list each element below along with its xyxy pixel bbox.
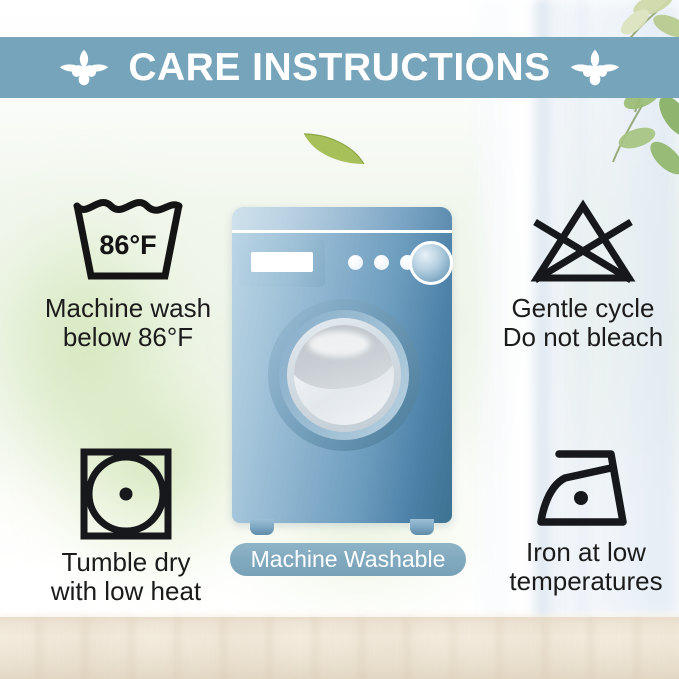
washer-foot-left: [250, 519, 274, 535]
fleur-de-lis-icon: [58, 46, 110, 90]
drawer-slot: [251, 252, 313, 272]
caption-line-1: Machine wash: [45, 294, 211, 323]
washer-door-highlight: [308, 331, 370, 357]
wood-grain-texture: [0, 617, 679, 679]
care-item-do-not-bleach: Gentle cycle Do not bleach: [490, 196, 676, 352]
badge-label: Machine Washable: [251, 546, 446, 573]
caption-line-1: Iron at low: [509, 538, 662, 567]
header-banner: CARE INSTRUCTIONS: [0, 37, 679, 98]
machine-washable-badge: Machine Washable: [230, 543, 466, 576]
tumble-dry-low-icon: [78, 446, 174, 542]
caption-line-1: Tumble dry: [51, 548, 201, 577]
caption-line-1: Gentle cycle: [503, 294, 663, 323]
care-item-machine-wash: 86°F Machine wash below 86°F: [22, 196, 234, 352]
washer-top-panel: [232, 207, 452, 233]
care-item-caption: Tumble dry with low heat: [51, 548, 201, 606]
fleur-de-lis-icon: [569, 46, 621, 90]
control-button: [348, 255, 363, 270]
detergent-drawer: [239, 239, 325, 287]
care-item-iron-low: Iron at low temperatures: [496, 446, 676, 596]
care-instructions-infographic: CARE INSTRUCTIONS 86°F Machine wash belo…: [0, 0, 679, 679]
triangle-crossed-out-icon: [523, 196, 643, 288]
page-title: CARE INSTRUCTIONS: [128, 46, 550, 90]
washer-door-glass: [294, 325, 394, 425]
control-button: [374, 255, 389, 270]
washer-foot-right: [410, 519, 434, 535]
caption-line-2: with low heat: [51, 577, 201, 606]
washing-machine-illustration: [232, 207, 452, 537]
caption-line-2: Do not bleach: [503, 323, 663, 352]
care-item-caption: Machine wash below 86°F: [45, 294, 211, 352]
control-buttons: [348, 255, 415, 270]
caption-line-2: temperatures: [509, 567, 662, 596]
iron-one-dot-icon: [531, 446, 641, 532]
wash-temperature-value: 86°F: [99, 230, 156, 260]
caption-line-2: below 86°F: [45, 323, 211, 352]
care-item-caption: Iron at low temperatures: [509, 538, 662, 596]
control-dial: [409, 241, 453, 285]
wash-tub-icon: 86°F: [69, 196, 187, 288]
care-item-tumble-dry: Tumble dry with low heat: [26, 446, 226, 606]
care-item-caption: Gentle cycle Do not bleach: [503, 294, 663, 352]
